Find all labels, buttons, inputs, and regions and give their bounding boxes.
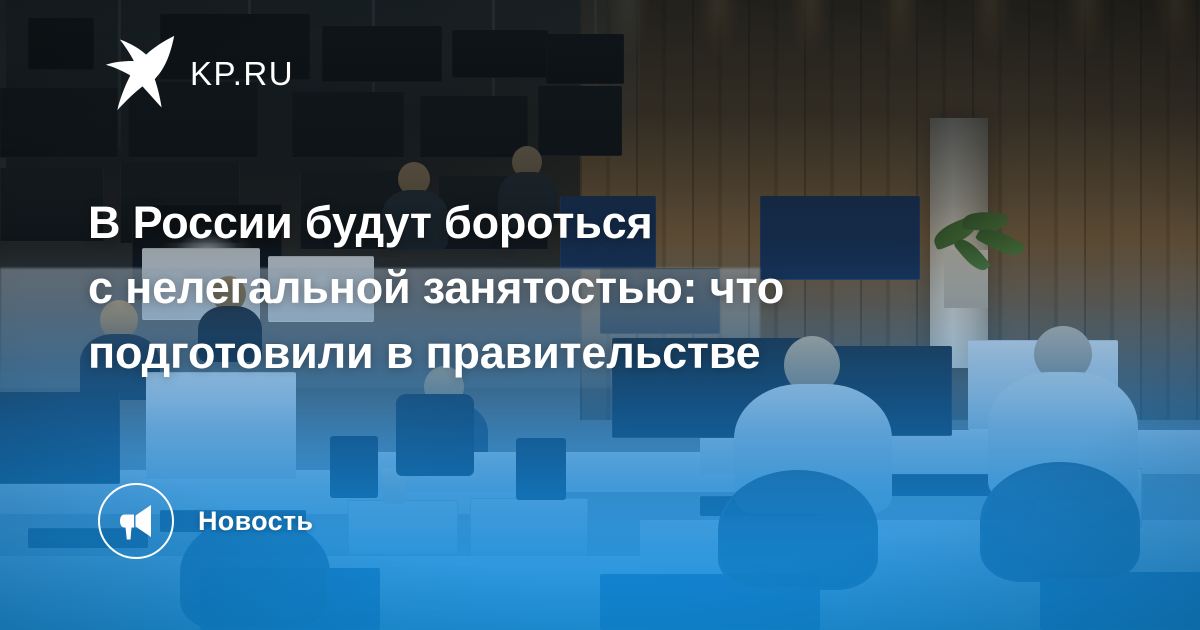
megaphone-icon [116, 501, 156, 541]
headline-line-1: В России будут бороться [88, 190, 988, 255]
social-share-card: KP.RU В России будут бороться с нелегаль… [0, 0, 1200, 630]
page-title: В России будут бороться с нелегальной за… [88, 190, 988, 385]
card-content: KP.RU В России будут бороться с нелегаль… [0, 0, 1200, 630]
badge-circle [98, 483, 174, 559]
swallow-bird-icon [104, 34, 176, 112]
headline-line-3: подготовили в правительстве [88, 320, 988, 385]
status-badge[interactable]: Новость [98, 483, 313, 559]
brand-name: KP.RU [190, 57, 294, 90]
headline-line-2: с нелегальной занятостью: что [88, 255, 988, 320]
brand-lockup[interactable]: KP.RU [104, 34, 294, 112]
badge-label: Новость [198, 506, 313, 537]
